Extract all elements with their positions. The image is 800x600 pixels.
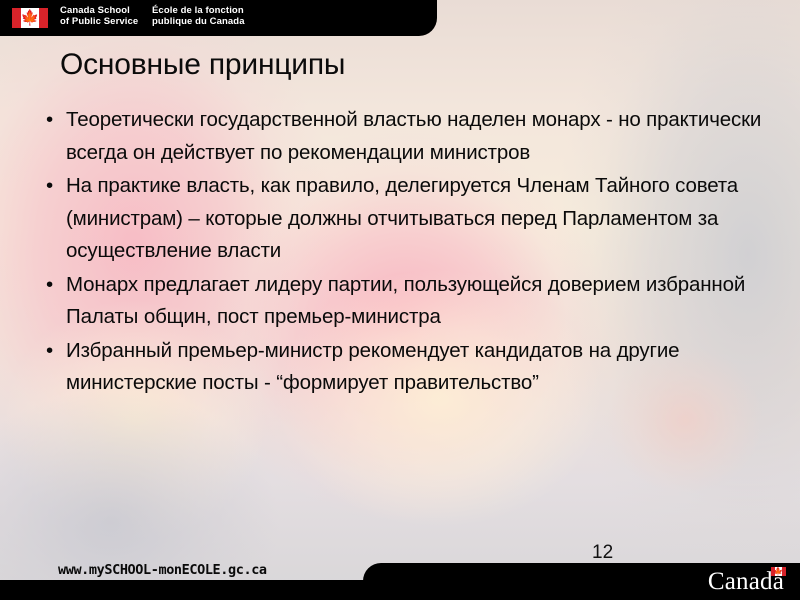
canada-wordmark: Canada 🍁: [708, 569, 784, 595]
presentation-slide: 🍁 Canada School of Public Service École …: [0, 0, 800, 600]
bullet-text: На практике власть, как правило, делегир…: [66, 174, 738, 262]
bullet-item: • Монарх предлагает лидеру партии, польз…: [38, 269, 764, 334]
footer-url[interactable]: www.mySCHOOL-monECOLE.gc.ca: [58, 562, 267, 578]
bullet-text: Избранный премьер-министр рекомендует ка…: [66, 339, 679, 395]
organization-wordmark-french: École de la fonction publique du Canada: [152, 5, 245, 27]
bullet-text: Монарх предлагает лидеру партии, пользую…: [66, 273, 745, 329]
bullet-marker-icon: •: [46, 269, 53, 302]
bullet-item: • Теоретически государственной властью н…: [38, 104, 764, 169]
bullet-marker-icon: •: [46, 104, 53, 137]
bullet-item: • Избранный премьер-министр рекомендует …: [38, 335, 764, 400]
canada-flag-icon: 🍁: [12, 8, 48, 28]
slide-title: Основные принципы: [60, 48, 760, 82]
bullet-marker-icon: •: [46, 170, 53, 203]
header-bar: 🍁 Canada School of Public Service École …: [0, 0, 437, 36]
page-number: 12: [592, 542, 613, 564]
organization-wordmark-english: Canada School of Public Service: [60, 5, 138, 27]
bullet-list: • Теоретически государственной властью н…: [38, 104, 764, 401]
bullet-marker-icon: •: [46, 335, 53, 368]
bullet-text: Теоретически государственной властью над…: [66, 108, 761, 164]
bullet-item: • На практике власть, как правило, делег…: [38, 170, 764, 268]
canada-flag-icon: 🍁: [771, 567, 786, 576]
